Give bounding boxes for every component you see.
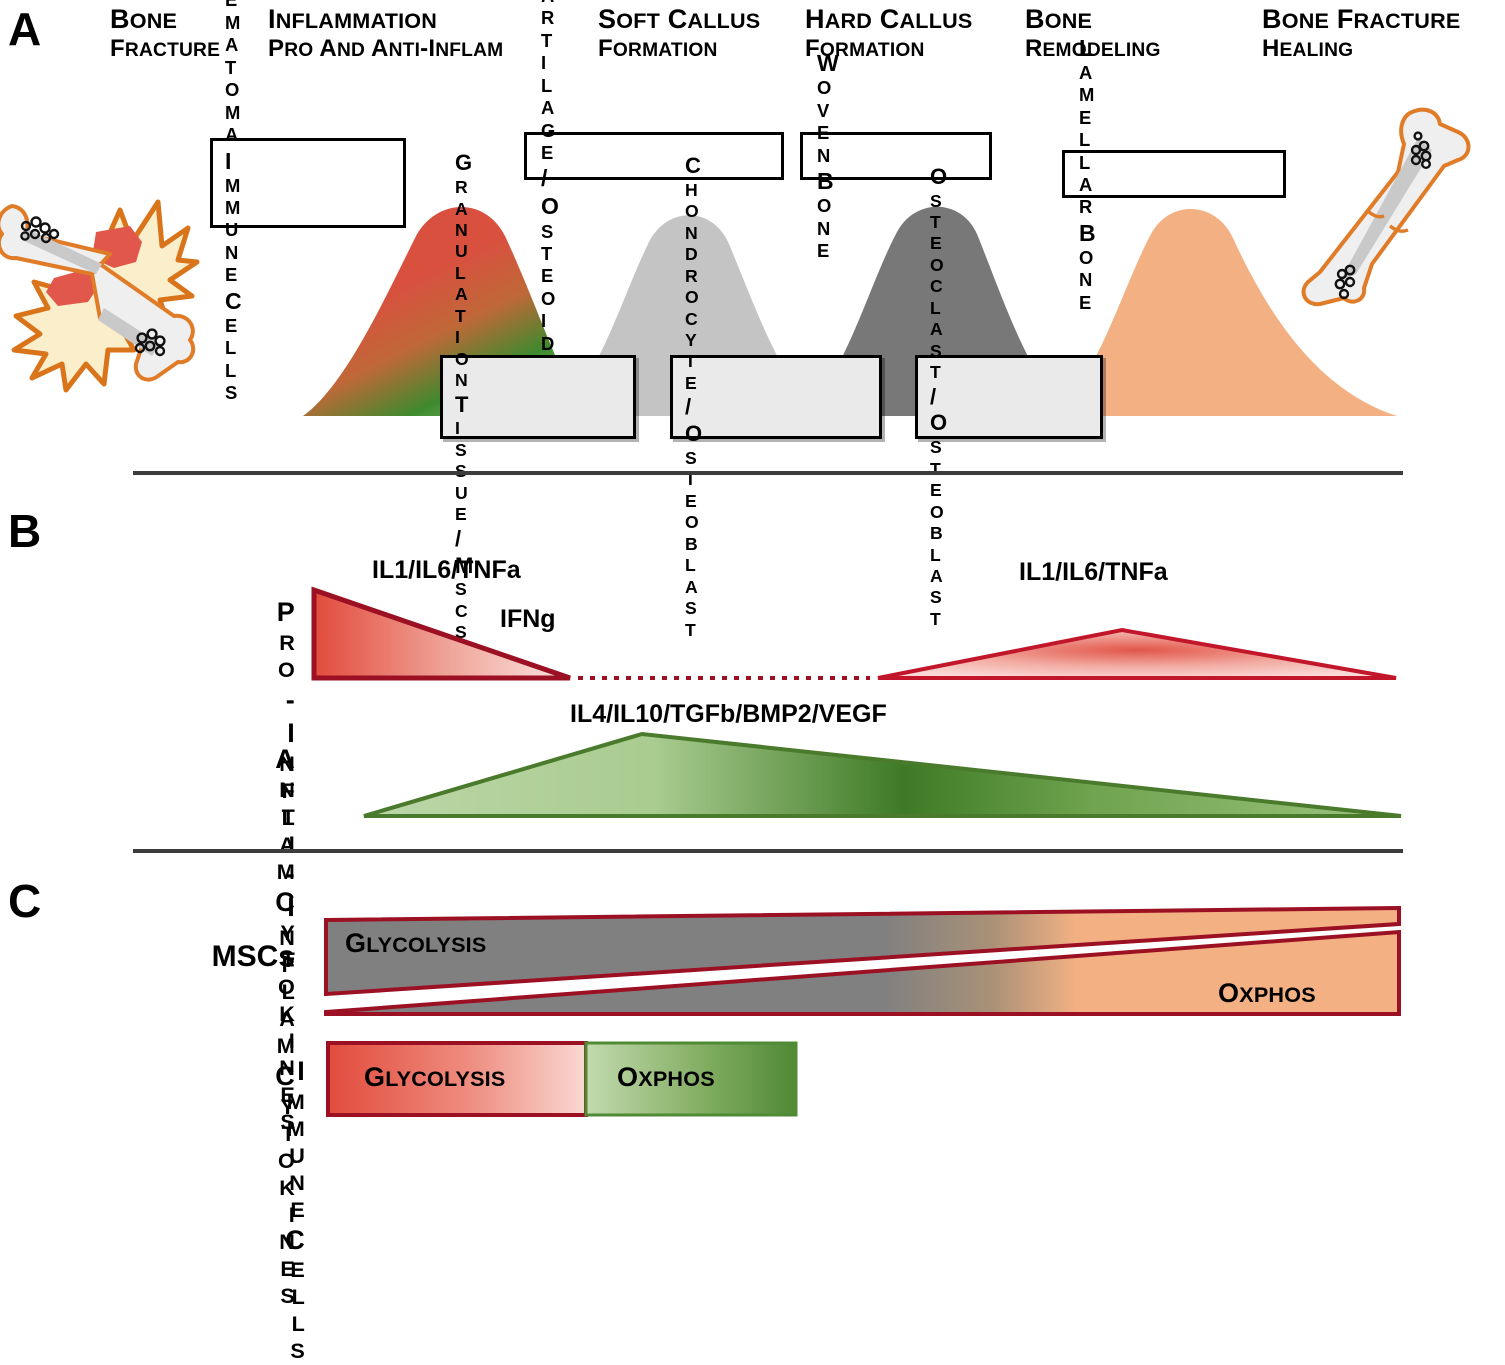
row-label-mscs: MSCs: [30, 938, 295, 976]
annotation-il4-il10-tgfb-bmp2-vegf: IL4/IL10/TGFb/BMP2/VEGF: [570, 700, 887, 729]
panel-letter-a: A: [8, 6, 41, 52]
pro-inflam-triangle-right: [878, 630, 1396, 678]
annotation-il1-il6-tnfa-left: IL1/IL6/TNFa: [372, 556, 521, 585]
anti-inflam-curve: [360, 730, 1405, 820]
upper-box-hematoma: HEMATOMA IMMUNE CELLS: [210, 138, 406, 228]
divider-a-b: [133, 471, 1403, 475]
box-line: IMMUNE CELLS: [225, 147, 391, 405]
row-label-line: IMMUNE CELLS: [30, 1055, 305, 1365]
box-line: GRANULATION: [455, 150, 621, 391]
lower-box-chondrocyte-osteoblast: CHONDROCYTE/ OSTEOBLAST: [670, 355, 882, 439]
immune-glycolysis-label: GLYCOLYSIS: [364, 1062, 505, 1093]
anti-inflam-triangle: [364, 734, 1401, 816]
lower-box-osteoclast-osteoblast: OSTEOCLAST/ OSTEOBLAST: [915, 355, 1103, 439]
panel-letter-c: C: [8, 878, 41, 924]
panel-letter-b: B: [8, 508, 41, 554]
box-line: HEMATOMA: [225, 0, 391, 147]
pro-inflam-triangle-left: [314, 590, 570, 678]
msc-glycolysis-label: GLYCOLYSIS: [345, 928, 486, 959]
stage-title-line1: HARD CALLUS: [805, 4, 1005, 35]
upper-box-lamellar-bone: LAMELLAR BONE: [1062, 150, 1286, 198]
msc-oxphos-label: OXPHOS: [1218, 978, 1316, 1009]
divider-b-c: [133, 849, 1403, 853]
lower-box-granulation-tissue: GRANULATION TISSUE/MSCS: [440, 355, 636, 439]
stage-title-line1: BONE: [1025, 4, 1245, 35]
fractured-bone-icon: [0, 150, 207, 385]
pro-inflam-curves: [310, 586, 1400, 684]
row-label-immune-cells: IMMUNE CELLS: [30, 1055, 305, 1365]
healed-bone-icon: [1286, 104, 1501, 324]
immune-oxphos-label: OXPHOS: [617, 1062, 715, 1093]
box-line: LAMELLAR BONE: [1079, 34, 1269, 315]
stage-title-line2: HEALING: [1262, 35, 1505, 62]
stage-title-line1: BONE FRACTURE: [1262, 4, 1505, 35]
box-line: CHONDROCYTE/: [685, 153, 867, 421]
box-line: OSTEOCLAST/: [930, 164, 1088, 411]
annotation-il1-il6-tnfa-right: IL1/IL6/TNFa: [1019, 558, 1168, 587]
figure-bone-healing: A BONE FRACTURE INFLAMMATION PRO AND ANT…: [0, 0, 1505, 1127]
row-label-line: MSCs: [30, 938, 295, 976]
row-label-line: ANTI-INFLAM: [30, 743, 295, 1060]
annotation-ifng: IFNg: [500, 605, 556, 634]
stage-title-bone-fracture-healing: BONE FRACTURE HEALING: [1262, 4, 1505, 62]
